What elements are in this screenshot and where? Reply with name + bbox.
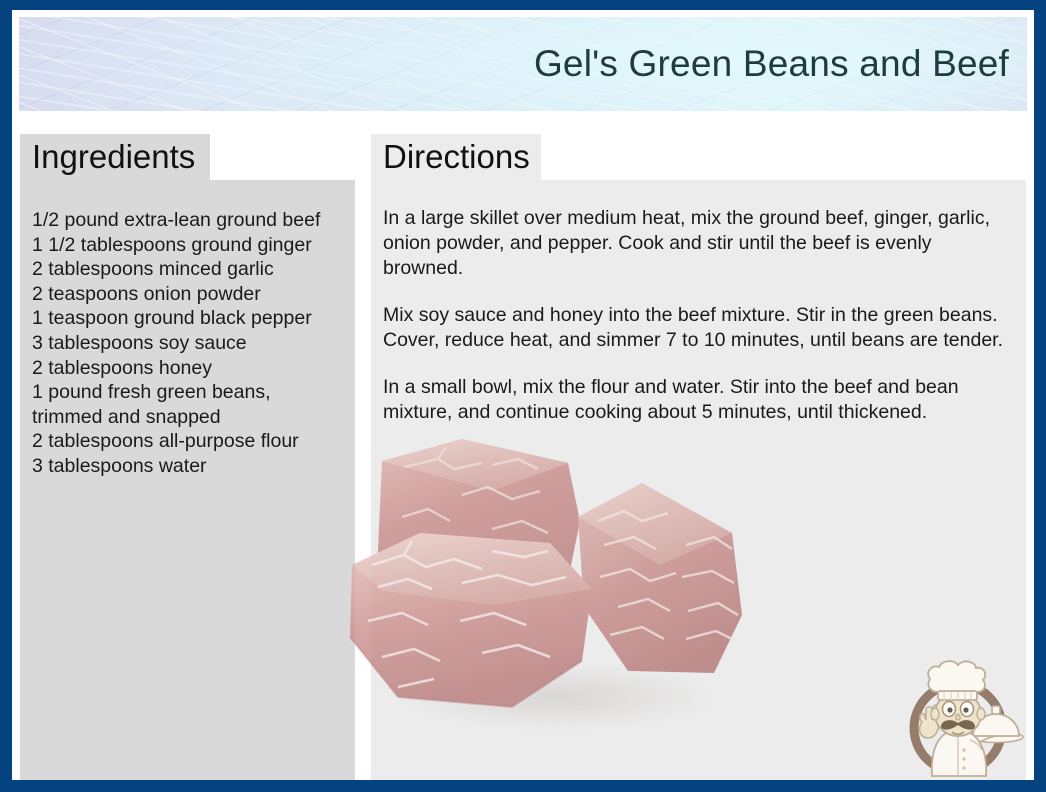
- list-item: 1/2 pound extra-lean ground beef: [32, 208, 347, 233]
- directions-steps: In a large skillet over medium heat, mix…: [383, 206, 1012, 425]
- list-item: 2 tablespoons all-purpose flour: [32, 429, 347, 454]
- recipe-card: Gel's Green Beans and Beef Ingredients 1…: [0, 0, 1046, 792]
- direction-step: In a small bowl, mix the flour and water…: [383, 375, 1012, 425]
- list-item: 2 tablespoons minced garlic: [32, 257, 347, 282]
- list-item: 3 tablespoons water: [32, 454, 347, 479]
- ingredients-panel: 1/2 pound extra-lean ground beef 1 1/2 t…: [20, 180, 355, 780]
- page-title: Gel's Green Beans and Beef: [534, 43, 1009, 85]
- ingredients-list: 1/2 pound extra-lean ground beef 1 1/2 t…: [32, 208, 347, 479]
- direction-step: In a large skillet over medium heat, mix…: [383, 206, 1012, 281]
- directions-heading: Directions: [371, 134, 541, 180]
- chef-logo: [900, 658, 1026, 780]
- ingredients-heading: Ingredients: [20, 134, 210, 180]
- list-item: 1 pound fresh green beans, trimmed and s…: [32, 380, 347, 429]
- header-banner: Gel's Green Beans and Beef: [19, 17, 1027, 111]
- list-item: 1 teaspoon ground black pepper: [32, 306, 347, 331]
- direction-step: Mix soy sauce and honey into the beef mi…: [383, 303, 1012, 353]
- list-item: 3 tablespoons soy sauce: [32, 331, 347, 356]
- list-item: 2 tablespoons honey: [32, 356, 347, 381]
- list-item: 1 1/2 tablespoons ground ginger: [32, 233, 347, 258]
- list-item: 2 teaspoons onion powder: [32, 282, 347, 307]
- recipe-page: Gel's Green Beans and Beef Ingredients 1…: [12, 10, 1034, 780]
